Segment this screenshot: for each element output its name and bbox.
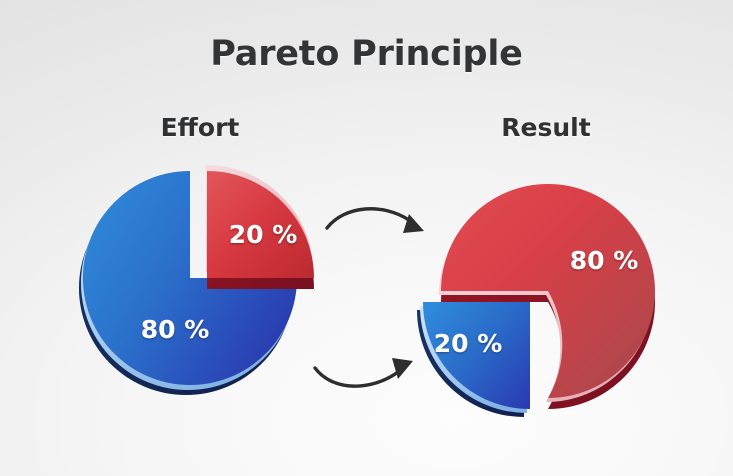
effort-big-slice-value: 80 %: [141, 315, 210, 344]
result-big-slice-value: 80 %: [570, 246, 639, 275]
result-pie-chart: 80 % 20 %: [417, 184, 655, 417]
curved-arrow-right-bottom-icon: [315, 358, 413, 386]
effort-pie-chart: 80 % 20 %: [79, 165, 314, 395]
effort-small-slice-value: 20 %: [229, 220, 298, 249]
pie-charts-artwork: 80 % 20 %: [0, 0, 733, 476]
pareto-principle-infographic: Pareto Principle Effort Result: [0, 0, 733, 476]
result-small-slice-value: 20 %: [434, 329, 503, 358]
curved-arrow-right-top-icon: [327, 209, 424, 233]
